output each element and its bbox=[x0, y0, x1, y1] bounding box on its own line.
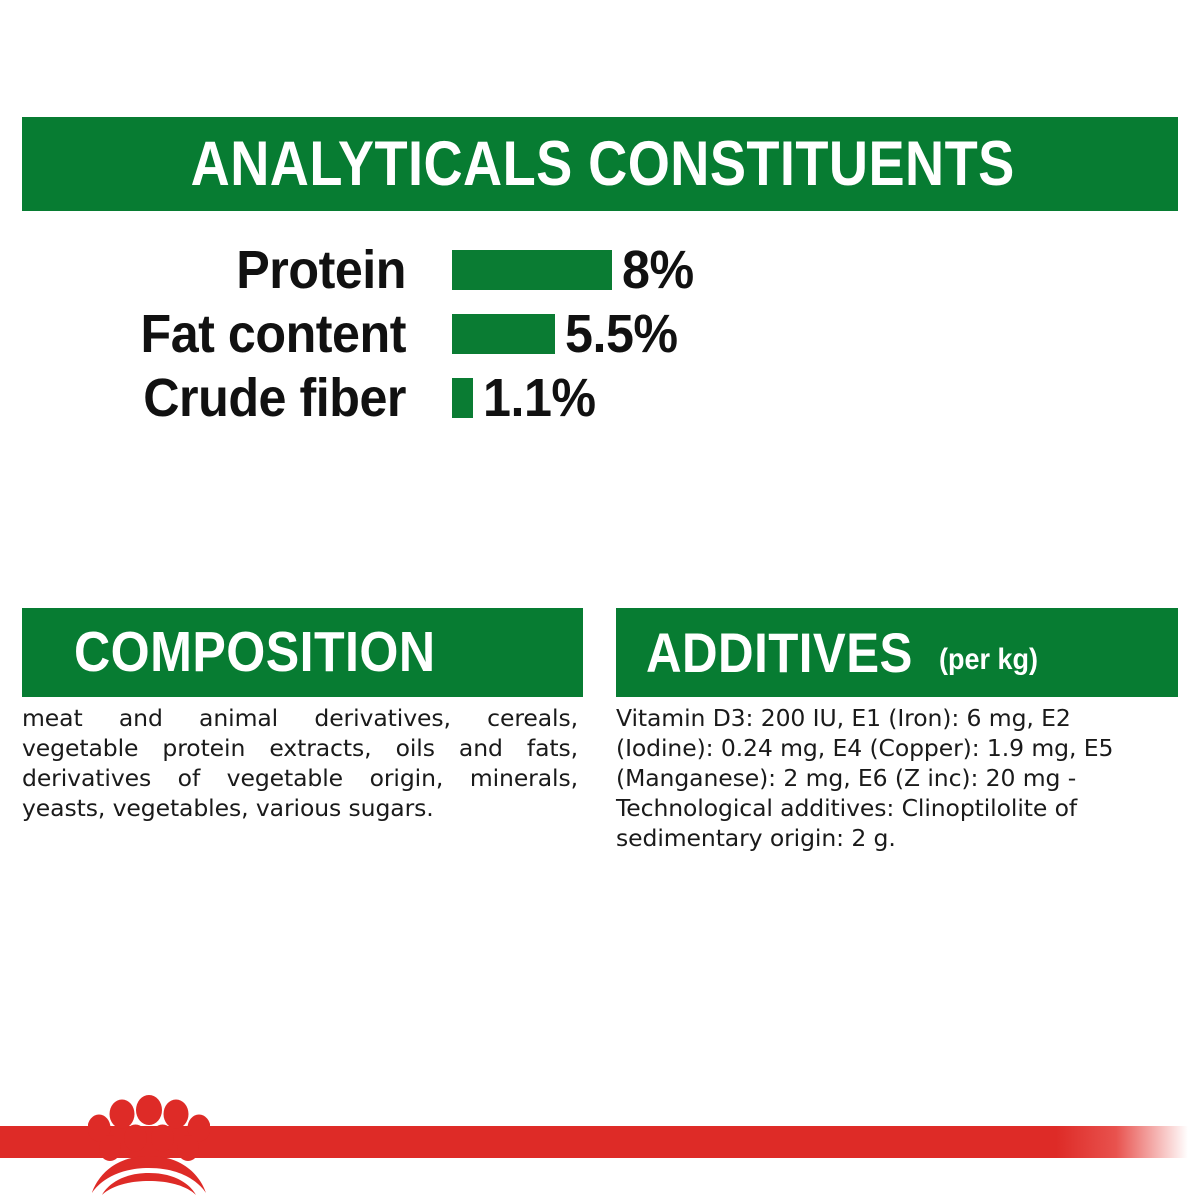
nutrition-bar-fat-content bbox=[452, 314, 555, 354]
analyticals-bar-chart: Protein 8% Fat content 5.5% Crude fiber … bbox=[0, 238, 1200, 430]
analyticals-constituents-header: ANALYTICALS CONSTITUENTS bbox=[22, 117, 1178, 211]
royal-canin-crown-icon bbox=[88, 1094, 210, 1196]
nutrition-bar-crude-fiber bbox=[452, 378, 473, 418]
additives-panel: ADDITIVES (per kg) Vitamin D3: 200 IU, E… bbox=[616, 608, 1178, 853]
nutrition-row-protein: Protein 8% bbox=[0, 238, 1200, 302]
nutrition-value-fat-content: 5.5% bbox=[565, 307, 678, 361]
nutrition-label-fat-content: Fat content bbox=[28, 307, 406, 361]
additives-header: ADDITIVES (per kg) bbox=[616, 608, 1178, 697]
additives-heading-text: ADDITIVES bbox=[646, 625, 913, 681]
composition-panel: COMPOSITION meat and animal derivatives,… bbox=[22, 608, 583, 823]
composition-header: COMPOSITION bbox=[22, 608, 583, 697]
nutrition-value-crude-fiber: 1.1% bbox=[483, 371, 596, 425]
analyticals-heading-text: ANALYTICALS CONSTITUENTS bbox=[185, 133, 1014, 196]
composition-body-text: meat and animal derivatives, cereals, ve… bbox=[22, 697, 578, 823]
nutrition-label-protein: Protein bbox=[28, 243, 406, 297]
additives-body-text: Vitamin D3: 200 IU, E1 (Iron): 6 mg, E2 … bbox=[616, 697, 1172, 853]
nutrition-label-sheet: ANALYTICALS CONSTITUENTS Protein 8% Fat … bbox=[0, 0, 1200, 1200]
nutrition-bar-protein bbox=[452, 250, 612, 290]
nutrition-value-protein: 8% bbox=[622, 243, 694, 297]
additives-heading-unit: (per kg) bbox=[939, 645, 1038, 695]
nutrition-row-fat-content: Fat content 5.5% bbox=[0, 302, 1200, 366]
composition-heading-text: COMPOSITION bbox=[74, 624, 436, 681]
nutrition-row-crude-fiber: Crude fiber 1.1% bbox=[0, 366, 1200, 430]
nutrition-label-crude-fiber: Crude fiber bbox=[28, 371, 406, 425]
